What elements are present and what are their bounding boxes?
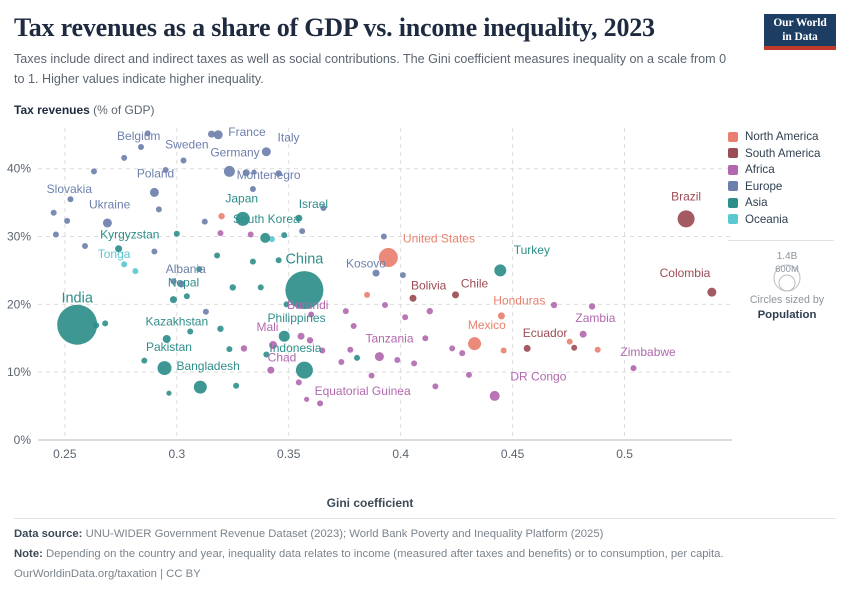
data-point-equatorial-guinea[interactable] [317, 400, 323, 406]
data-point[interactable] [595, 347, 601, 353]
data-point[interactable] [250, 259, 256, 265]
svg-text:1.4B: 1.4B [777, 251, 798, 262]
data-point[interactable] [501, 347, 507, 353]
point-label-china: China [285, 252, 324, 268]
data-point[interactable] [156, 206, 162, 212]
point-label-ukraine: Ukraine [89, 198, 131, 212]
legend-label: Africa [745, 163, 775, 176]
data-point[interactable] [82, 243, 88, 249]
data-point-mexico[interactable] [468, 337, 481, 350]
data-source-label: Data source: [14, 528, 82, 540]
point-label-kazakhstan: Kazakhstan [145, 314, 208, 328]
point-label-south-korea: South Korea [233, 212, 300, 226]
legend-label: Asia [745, 196, 768, 209]
data-point[interactable] [241, 345, 247, 351]
data-point[interactable] [567, 339, 573, 345]
point-label-zambia: Zambia [575, 311, 615, 325]
size-legend-metric: Population [728, 308, 846, 323]
logo-line-1: Our World [764, 17, 836, 31]
data-point-tonga[interactable] [121, 261, 127, 267]
data-point[interactable] [427, 308, 433, 314]
point-label-kyrgyzstan: Kyrgyzstan [100, 228, 159, 242]
data-point-slovakia[interactable] [67, 196, 73, 202]
point-label-chad: Chad [268, 350, 297, 364]
data-point[interactable] [102, 320, 108, 326]
point-label-slovakia: Slovakia [47, 182, 93, 196]
data-point[interactable] [466, 372, 472, 378]
license-row[interactable]: OurWorldinData.org/taxation | CC BY [14, 564, 834, 584]
data-point[interactable] [53, 231, 59, 237]
y-tick-label: 0% [14, 433, 32, 447]
data-point[interactable] [364, 292, 370, 298]
logo-line-2: in Data [764, 31, 836, 45]
data-point[interactable] [281, 232, 287, 238]
data-point-pakistan[interactable] [157, 361, 171, 375]
owid-logo[interactable]: Our World in Data [764, 14, 836, 50]
data-point[interactable] [382, 302, 388, 308]
data-point[interactable] [276, 257, 282, 263]
data-point-belgium[interactable] [138, 144, 144, 150]
point-label-equatorial-guinea: Equatorial Guinea [315, 384, 411, 398]
legend-label: Oceania [745, 213, 788, 226]
x-tick-label: 0.5 [616, 447, 633, 461]
legend-swatch-oceania [728, 214, 738, 224]
point-label-brazil: Brazil [671, 190, 701, 204]
point-label-belgium: Belgium [117, 129, 160, 143]
y-axis-title-bold: Tax revenues [14, 103, 90, 117]
data-point-south-korea[interactable] [260, 233, 270, 243]
data-point-nepal[interactable] [170, 296, 177, 303]
footer-divider [14, 518, 836, 519]
data-point[interactable] [589, 303, 595, 309]
legend-item-north-america[interactable]: North America [728, 130, 846, 143]
note-row: Note: Depending on the country and year,… [14, 544, 834, 564]
legend-label: Europe [745, 180, 782, 193]
legend-item-europe[interactable]: Europe [728, 180, 846, 193]
data-point[interactable] [64, 218, 70, 224]
point-label-albania: Albania [166, 262, 206, 276]
data-point[interactable] [226, 346, 232, 352]
legend-item-south-america[interactable]: South America [728, 147, 846, 160]
point-label-poland: Poland [137, 167, 174, 181]
data-point[interactable] [233, 383, 239, 389]
data-point[interactable] [551, 302, 557, 308]
chart-subtitle: Taxes include direct and indirect taxes … [14, 50, 739, 89]
point-label-bangladesh: Bangladesh [176, 359, 239, 373]
data-point[interactable] [347, 347, 353, 353]
footer: Data source: UNU-WIDER Government Revenu… [14, 524, 834, 584]
data-point-bangladesh[interactable] [194, 381, 207, 394]
data-point[interactable] [51, 210, 57, 216]
legend-item-oceania[interactable]: Oceania [728, 213, 846, 226]
data-point-bolivia[interactable] [409, 295, 416, 302]
data-source-text: UNU-WIDER Government Revenue Dataset (20… [82, 528, 603, 540]
point-label-italy: Italy [278, 131, 300, 145]
data-point[interactable] [217, 326, 223, 332]
data-point-ecuador[interactable] [524, 345, 531, 352]
data-point[interactable] [422, 335, 428, 341]
data-point-brazil[interactable] [678, 210, 695, 227]
size-legend-caption: Circles sized by Population [728, 294, 846, 323]
size-legend: 1.4B 600M Circles sized by Population [728, 248, 846, 323]
scatter-plot[interactable]: 0%10%20%30%40%0.250.30.350.40.450.5India… [0, 120, 740, 480]
data-point[interactable] [230, 284, 236, 290]
legend-swatch-asia [728, 198, 738, 208]
data-point[interactable] [354, 355, 360, 361]
x-tick-label: 0.3 [168, 447, 185, 461]
chart-page: Tax revenues as a share of GDP vs. incom… [0, 0, 850, 600]
point-label-bolivia: Bolivia [411, 278, 447, 292]
legend-label: South America [745, 147, 820, 160]
point-label-sweden: Sweden [165, 137, 208, 151]
data-point-tanzania[interactable] [375, 352, 384, 361]
data-point[interactable] [394, 357, 400, 363]
data-point[interactable] [369, 373, 375, 379]
data-point-indonesia[interactable] [296, 362, 313, 379]
point-label-kosovo: Kosovo [346, 257, 386, 271]
legend-item-asia[interactable]: Asia [728, 196, 846, 209]
data-source-row: Data source: UNU-WIDER Government Revenu… [14, 524, 834, 544]
data-point[interactable] [351, 323, 357, 329]
x-tick-label: 0.35 [277, 447, 301, 461]
point-label-turkey: Turkey [514, 243, 550, 257]
point-label-pakistan: Pakistan [146, 340, 192, 354]
data-point[interactable] [218, 213, 224, 219]
y-axis-title: Tax revenues (% of GDP) [14, 103, 155, 117]
point-label-japan: Japan [225, 192, 258, 206]
data-point[interactable] [217, 230, 223, 236]
data-point[interactable] [214, 253, 220, 259]
data-point[interactable] [132, 268, 138, 274]
data-point[interactable] [296, 379, 302, 385]
y-tick-label: 10% [7, 365, 31, 379]
data-point-zimbabwe[interactable] [630, 365, 636, 371]
data-point[interactable] [571, 345, 577, 351]
size-legend-caption-text: Circles sized by [750, 294, 824, 306]
data-point[interactable] [381, 234, 387, 240]
data-point-italy[interactable] [262, 147, 271, 156]
point-label-honduras: Honduras [493, 293, 545, 307]
legend-swatch-africa [728, 165, 738, 175]
point-label-ecuador: Ecuador [523, 326, 568, 340]
data-point[interactable] [402, 314, 408, 320]
point-label-israel: Israel [299, 197, 328, 211]
data-point[interactable] [91, 168, 97, 174]
x-tick-label: 0.4 [392, 447, 409, 461]
legend-label: North America [745, 130, 818, 143]
point-label-mexico: Mexico [468, 318, 506, 332]
point-label-dr-congo: DR Congo [510, 369, 566, 383]
data-point[interactable] [411, 360, 417, 366]
data-point[interactable] [338, 359, 344, 365]
data-point[interactable] [299, 228, 305, 234]
data-point[interactable] [343, 308, 349, 314]
svg-text:600M: 600M [775, 264, 799, 275]
note-label: Note: [14, 548, 43, 560]
continent-legend[interactable]: North AmericaSouth AmericaAfricaEuropeAs… [728, 130, 846, 229]
point-label-germany: Germany [210, 145, 259, 159]
point-label-tonga: Tonga [98, 247, 131, 261]
data-point-france[interactable] [214, 130, 223, 139]
data-point[interactable] [121, 155, 127, 161]
point-label-zimbabwe: Zimbabwe [620, 345, 676, 359]
page-title: Tax revenues as a share of GDP vs. incom… [14, 14, 734, 43]
data-point[interactable] [174, 231, 180, 237]
data-point-ukraine[interactable] [103, 218, 112, 227]
point-label-nepal: Nepal [168, 276, 199, 290]
legend-item-africa[interactable]: Africa [728, 163, 846, 176]
data-point-india[interactable] [57, 305, 97, 345]
x-tick-label: 0.25 [53, 447, 77, 461]
data-point[interactable] [166, 391, 171, 396]
data-point[interactable] [248, 231, 254, 237]
data-point[interactable] [432, 383, 438, 389]
point-label-colombia: Colombia [660, 266, 711, 280]
y-tick-label: 40% [7, 162, 31, 176]
data-point-chad[interactable] [267, 367, 274, 374]
y-axis-title-unit: (% of GDP) [90, 103, 155, 117]
point-label-mali: Mali [256, 320, 278, 334]
data-point[interactable] [304, 397, 309, 402]
y-tick-label: 20% [7, 297, 31, 311]
point-label-france: France [228, 125, 266, 139]
data-point[interactable] [449, 345, 455, 351]
point-label-united-states: United States [403, 232, 475, 246]
point-label-burundi: Burundi [287, 298, 328, 312]
data-point-poland[interactable] [150, 188, 159, 197]
data-point[interactable] [151, 248, 157, 254]
data-point-colombia[interactable] [707, 288, 716, 297]
legend-swatch-north-america [728, 132, 738, 142]
legend-swatch-south-america [728, 148, 738, 158]
data-point[interactable] [298, 333, 305, 340]
data-point[interactable] [187, 328, 193, 334]
data-point-sweden[interactable] [181, 158, 187, 164]
point-label-montenegro: Montenegro [237, 168, 301, 182]
point-label-tanzania: Tanzania [365, 331, 413, 345]
data-point-chile[interactable] [452, 291, 459, 298]
legend-swatch-europe [728, 181, 738, 191]
data-point-dr-congo[interactable] [490, 391, 500, 401]
data-point[interactable] [141, 358, 147, 364]
x-tick-label: 0.45 [501, 447, 525, 461]
data-point[interactable] [202, 219, 208, 225]
data-point-germany[interactable] [224, 166, 235, 177]
data-point[interactable] [400, 272, 406, 278]
data-point[interactable] [459, 350, 465, 356]
legend-divider [728, 240, 834, 241]
y-tick-label: 30% [7, 230, 31, 244]
data-point-turkey[interactable] [494, 264, 506, 276]
point-label-india: India [61, 290, 93, 306]
note-text: Depending on the country and year, inequ… [43, 548, 724, 560]
data-point-zambia[interactable] [580, 331, 587, 338]
x-axis-title: Gini coefficient [0, 496, 740, 510]
data-point[interactable] [258, 284, 264, 290]
point-label-chile: Chile [461, 276, 489, 290]
data-point[interactable] [184, 293, 190, 299]
